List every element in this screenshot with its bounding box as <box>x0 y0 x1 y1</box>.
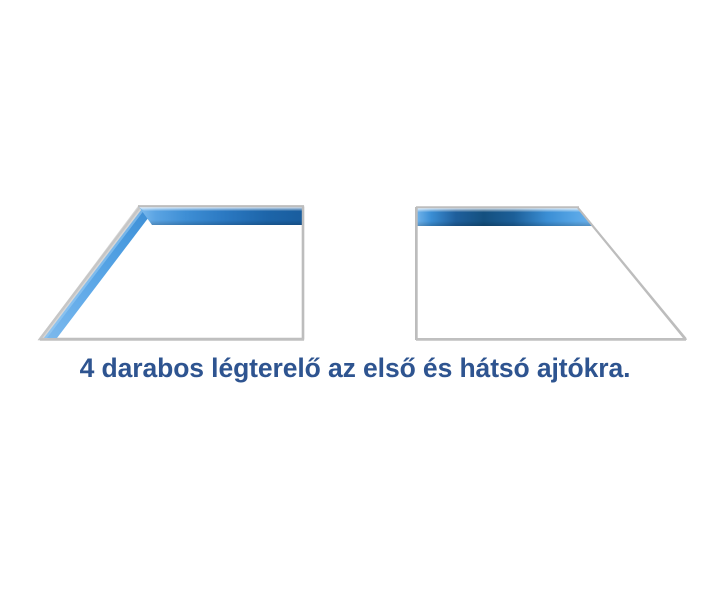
front-door-top-band-lip <box>139 207 303 211</box>
rear-door-top-band-shade <box>417 221 593 226</box>
shape-front-door-deflector <box>38 206 304 340</box>
rear-door-glass-body <box>416 208 685 339</box>
shape-rear-door-deflector <box>416 207 686 339</box>
deflector-diagram-svg <box>0 0 710 613</box>
front-door-glass-body <box>40 207 303 339</box>
caption-text: 4 darabos légterelő az első és hátsó ajt… <box>0 353 710 383</box>
product-figure: 4 darabos légterelő az első és hátsó ajt… <box>0 0 710 613</box>
rear-door-top-band-lip <box>417 208 581 212</box>
front-door-top-band-shade <box>149 220 303 225</box>
